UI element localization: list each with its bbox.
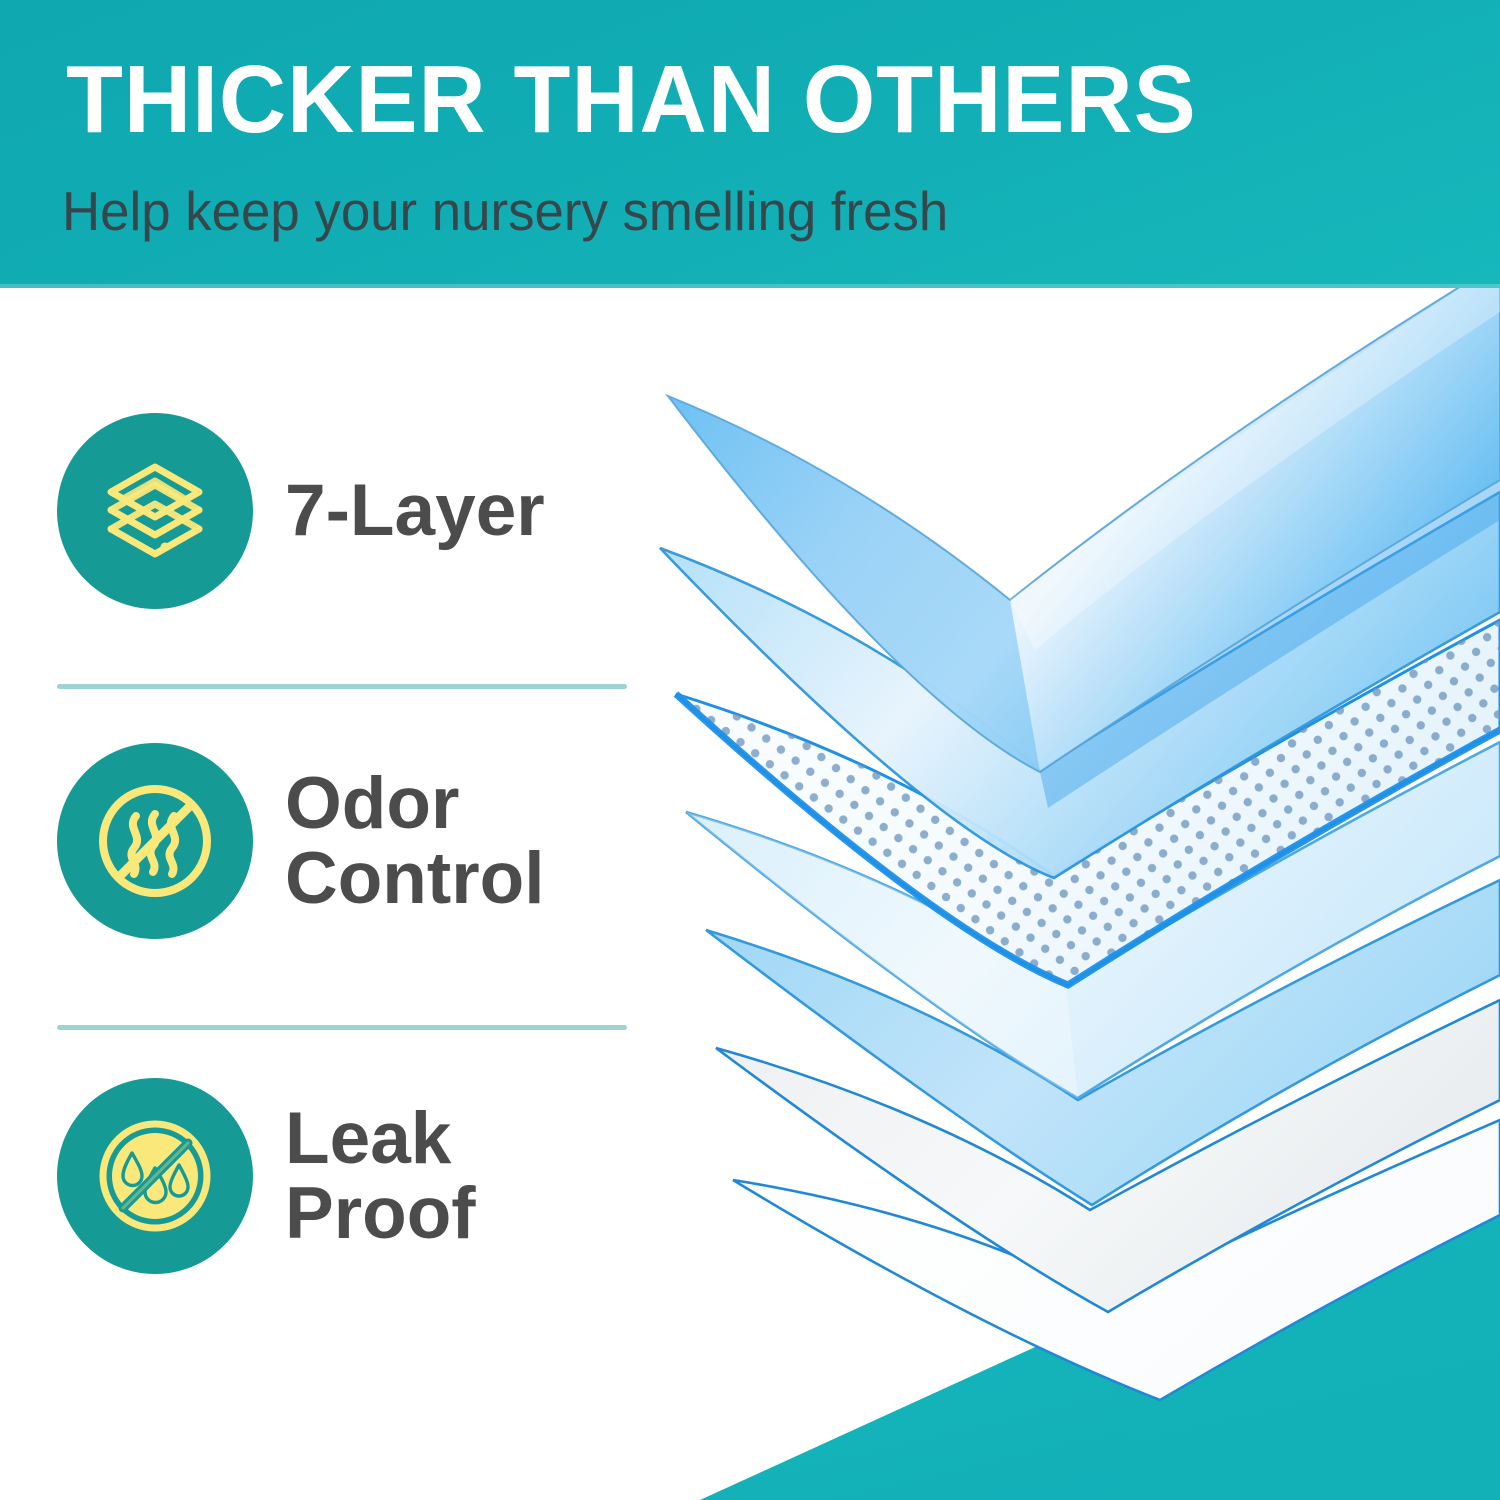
page-subtitle: Help keep your nursery smelling fresh <box>62 183 948 241</box>
feature-badge-odor-control <box>57 743 253 939</box>
feature-badge-7-layer <box>57 413 253 609</box>
layers-stack-icon <box>95 451 215 571</box>
infographic-page: THICKER THAN OTHERS Help keep your nurse… <box>0 0 1500 1500</box>
feature-item-leak-proof[interactable]: Leak Proof <box>57 1078 476 1274</box>
feature-item-odor-control[interactable]: Odor Control <box>57 743 545 939</box>
feature-label-leak-proof: Leak Proof <box>285 1101 476 1251</box>
illustration-layer-7 <box>733 1120 1500 1400</box>
illustration-layer-4 <box>686 742 1500 1098</box>
illustration-layer-5 <box>706 880 1500 1205</box>
feature-list: 7-Layer Odor Control <box>0 288 660 1500</box>
page-title: THICKER THAN OTHERS <box>66 52 1197 148</box>
feature-item-7-layer[interactable]: 7-Layer <box>57 413 545 609</box>
no-odor-icon <box>92 778 218 904</box>
feature-label-odor-control: Odor Control <box>285 766 545 916</box>
illustration-layer-1-top <box>668 262 1500 772</box>
illustration-dot-texture <box>676 620 1500 985</box>
header-band: THICKER THAN OTHERS Help keep your nurse… <box>0 0 1500 288</box>
illustration-teal-base <box>700 1185 1500 1500</box>
feature-divider-2 <box>57 1025 627 1030</box>
feature-divider-1 <box>57 684 627 689</box>
illustration-layer-2 <box>660 492 1500 878</box>
no-leak-droplets-icon <box>92 1113 218 1239</box>
feature-badge-leak-proof <box>57 1078 253 1274</box>
illustration-layer-6 <box>716 1000 1500 1312</box>
feature-label-7-layer: 7-Layer <box>285 473 545 548</box>
illustration-layer-3-dotted <box>676 620 1500 985</box>
